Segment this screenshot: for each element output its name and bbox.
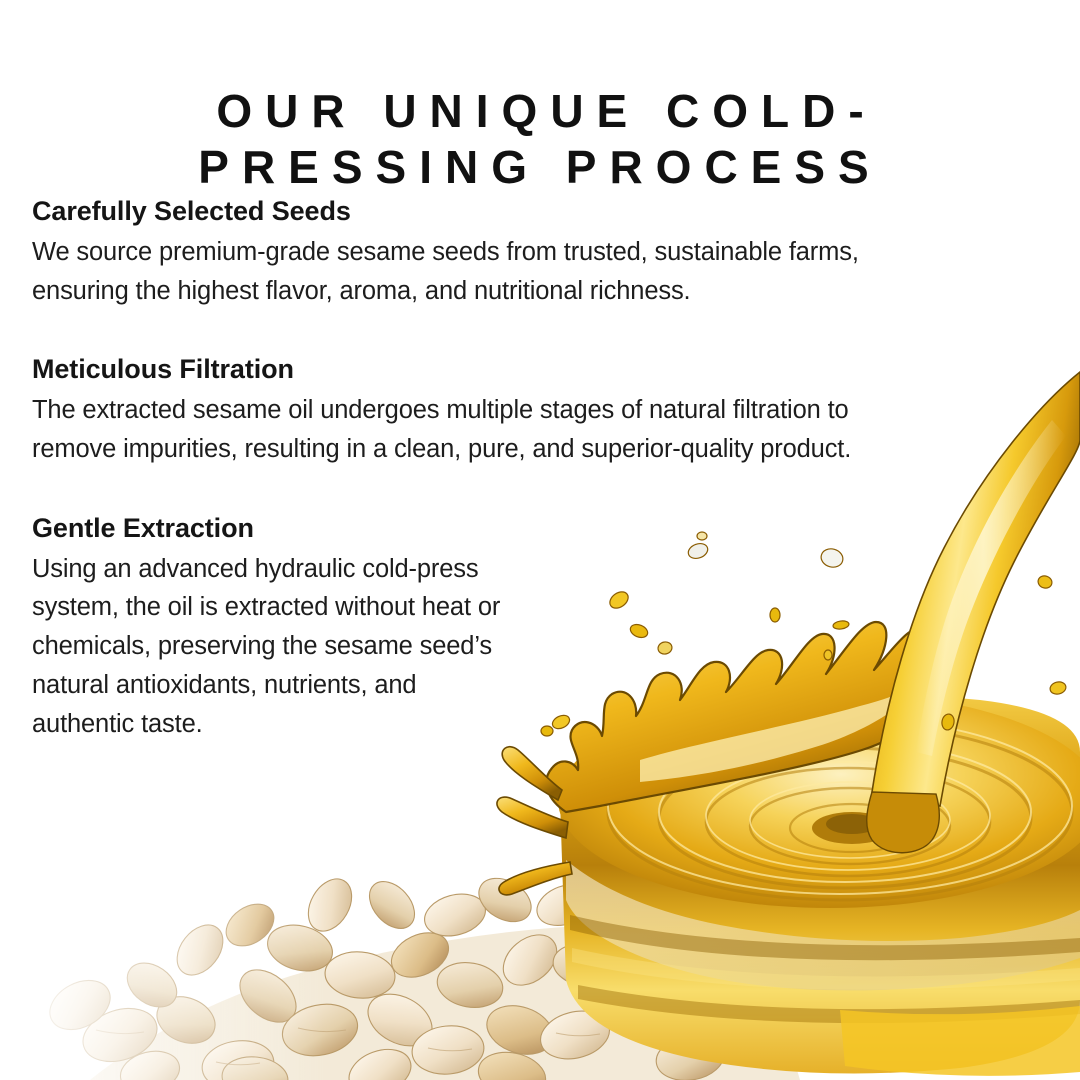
step-heading: Carefully Selected Seeds <box>32 196 952 228</box>
page-title: Our Unique Cold-Pressing Process <box>60 83 1020 196</box>
cold-pressing-process-infographic: Our Unique Cold-Pressing Process Careful… <box>0 0 1080 1080</box>
process-step-gentle-extraction: Gentle Extraction Using an advanced hydr… <box>32 513 952 744</box>
process-steps-list: Carefully Selected Seeds We source premi… <box>32 196 952 743</box>
step-heading: Gentle Extraction <box>32 513 952 545</box>
step-heading: Meticulous Filtration <box>32 354 952 386</box>
splash-spray <box>497 747 572 895</box>
oil-bowl-with-ripples <box>558 692 1080 1076</box>
process-step-meticulous-filtration: Meticulous Filtration The extracted sesa… <box>32 354 952 468</box>
process-step-carefully-selected-seeds: Carefully Selected Seeds We source premi… <box>32 196 952 310</box>
step-body: Using an advanced hydraulic cold-press s… <box>32 550 512 744</box>
sesame-seed-pile <box>41 857 800 1080</box>
step-body: The extracted sesame oil undergoes multi… <box>32 391 892 469</box>
step-body: We source premium-grade sesame seeds fro… <box>32 233 952 311</box>
